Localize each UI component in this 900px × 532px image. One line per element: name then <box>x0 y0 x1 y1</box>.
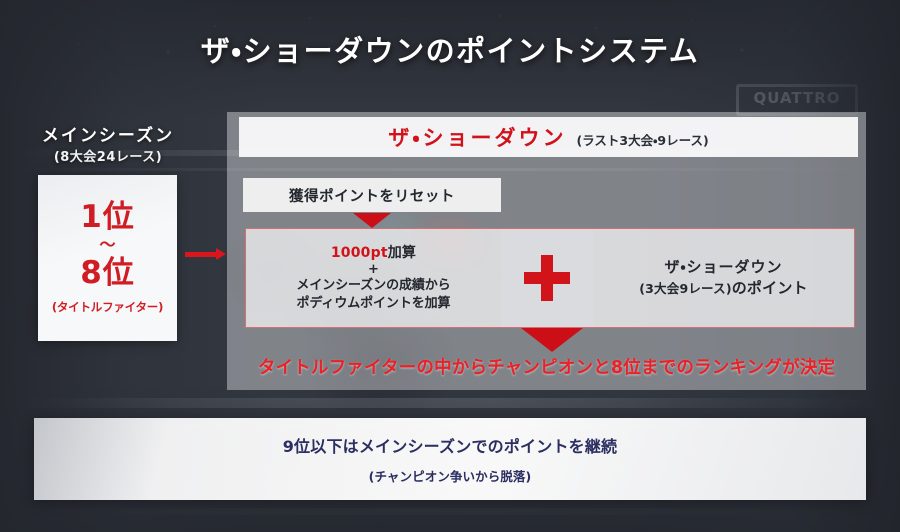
rank-tilde: 〜 <box>99 233 115 256</box>
calc-right-line1: ザ・ショーダウン <box>664 257 782 278</box>
showdown-header-main: ザ・ショーダウン <box>388 122 566 152</box>
calc-inner-operator: + <box>368 263 379 277</box>
calc-right-line2-small: (3大会9レース) <box>639 281 732 296</box>
rank-top: 1位 <box>80 201 135 234</box>
main-season-subheading: (8大会24レース) <box>20 146 196 165</box>
page-title: ザ・ショーダウンのポイントシステム <box>0 28 900 70</box>
calc-middle-section <box>501 229 593 327</box>
calc-points-suffix: 加算 <box>388 245 416 261</box>
calc-points-value: 1000pt <box>331 245 388 261</box>
calc-line3: ポディウムポイントを加算 <box>297 295 451 313</box>
arrow-down-large-icon <box>521 328 583 352</box>
calc-points-line: 1000pt加算 <box>331 244 416 263</box>
arrow-down-icon <box>353 213 391 228</box>
title-fighter-note: (タイトルファイター) <box>52 299 163 315</box>
calc-line2: メインシーズンの成績から <box>296 277 450 295</box>
infographic-stage: QUATTRO ザ・ショーダウンのポイントシステム メインシーズン (8大会24… <box>0 0 900 532</box>
plus-icon <box>524 255 570 301</box>
right-arrow-connector-icon <box>185 252 217 257</box>
showdown-header-sub: (ラスト3大会・9レース) <box>576 130 708 149</box>
bottom-note-bar: 9位以下はメインシーズンでのポイントを継続 (チャンピオン争いから脱落) <box>34 418 866 500</box>
reset-points-box: 獲得ポイントをリセット <box>243 178 501 212</box>
result-statement: タイトルファイターの中からチャンピオンと8位までのランキングが決定 <box>227 354 866 379</box>
rank-bottom: 8位 <box>80 257 135 290</box>
rank-range-box: 1位 〜 8位 (タイトルファイター) <box>38 175 177 341</box>
bottom-note-line1: 9位以下はメインシーズンでのポイントを継続 <box>283 433 618 457</box>
bottom-note-line2: (チャンピオン争いから脱落) <box>369 466 532 485</box>
showdown-header: ザ・ショーダウン (ラスト3大会・9レース) <box>239 117 858 157</box>
calc-right-line2-rest: のポイント <box>732 279 808 297</box>
calc-right-line2: (3大会9レース)のポイント <box>639 278 808 299</box>
reset-points-label: 獲得ポイントをリセット <box>289 185 455 206</box>
calc-left-section: 1000pt加算 + メインシーズンの成績から ポディウムポイントを加算 <box>246 229 501 327</box>
points-calculation-box: 1000pt加算 + メインシーズンの成績から ポディウムポイントを加算 ザ・シ… <box>245 228 855 328</box>
main-season-heading: メインシーズン <box>20 121 196 146</box>
calc-right-section: ザ・ショーダウン (3大会9レース)のポイント <box>593 229 854 327</box>
